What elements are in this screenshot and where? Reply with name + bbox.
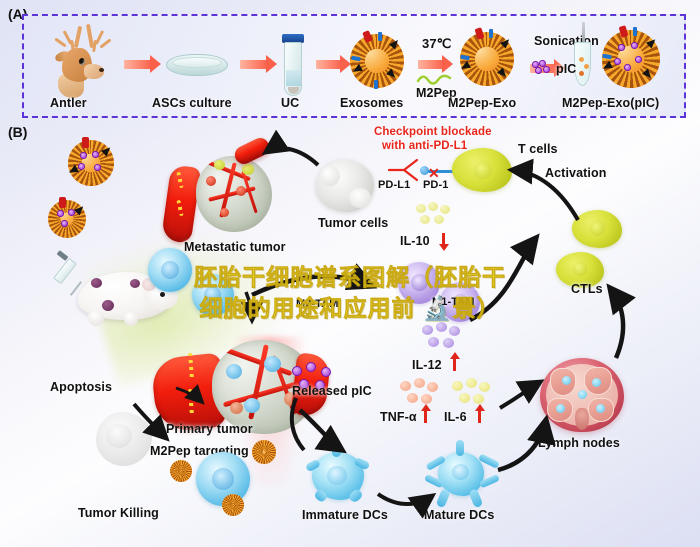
panel-a-label-ascs: ASCs culture <box>152 96 232 110</box>
watermark-line-1: 胚胎干细胞谱系图解（胚胎干 <box>0 262 700 293</box>
mature-dc-icon <box>438 452 484 496</box>
panel-a-label-exosomes: Exosomes <box>340 96 403 110</box>
sonication-tube-icon <box>570 24 596 86</box>
blockade-x-icon: ✕ <box>428 166 440 180</box>
label-pd1: PD-1 <box>423 179 448 191</box>
scientific-figure: (A) Antler ASCs culture <box>0 0 700 547</box>
peptide-exosome-icon <box>460 32 514 86</box>
process-arrow <box>124 60 152 69</box>
label-tumor-cells: Tumor cells <box>318 216 388 230</box>
t-cell-icon <box>452 148 512 192</box>
centrifuge-tube-icon <box>282 34 306 100</box>
panel-a-pic-label: pIC <box>556 62 576 76</box>
panel-a-label-m2pepexopic: M2Pep-Exo(pIC) <box>562 96 659 110</box>
il10-down-arrow-icon <box>442 233 445 245</box>
label-tumor-killing: Tumor Killing <box>78 506 159 520</box>
panel-b-mechanism: Metastatic tumor Tumor cells Checkpoint … <box>0 122 700 547</box>
ctl-cell-icon <box>572 210 622 248</box>
label-il6: IL-6 <box>444 410 467 424</box>
immature-dc-icon <box>312 452 364 500</box>
exosome-icon <box>252 440 276 464</box>
panel-a-label-m2pepexo: M2Pep-Exo <box>448 96 516 110</box>
panel-a-temperature: 37℃ <box>422 36 451 52</box>
tumor-cell-icon <box>316 160 374 212</box>
label-mature-dcs: Mature DCs <box>424 508 494 522</box>
process-arrow <box>240 60 268 69</box>
pic-molecule-icon <box>532 60 552 74</box>
label-immature-dcs: Immature DCs <box>302 508 388 522</box>
lymph-node-icon <box>540 358 624 432</box>
label-checkpoint-line1: Checkpoint blockade <box>374 126 492 138</box>
process-arrow <box>418 60 444 69</box>
deer-antler-icon <box>46 22 122 98</box>
label-released-pic: Released pIC <box>292 384 372 398</box>
label-checkpoint-line2: with anti-PD-L1 <box>382 140 467 152</box>
m2pep-squiggle-icon <box>416 72 456 86</box>
label-il12: IL-12 <box>412 358 442 372</box>
panel-a-label-antler: Antler <box>50 96 87 110</box>
process-arrow <box>316 60 342 69</box>
metastatic-tumor-icon <box>180 148 276 240</box>
il6-granules-icon <box>450 378 494 408</box>
label-apoptosis: Apoptosis <box>50 380 112 394</box>
label-il10: IL-10 <box>400 234 430 248</box>
exosome-icon <box>170 460 192 482</box>
label-lymph-nodes: Lymph nodes <box>538 436 620 450</box>
watermark-overlay: 胚胎干细胞谱系图解（胚胎干 细胞的用途和应用前 🔬景） <box>0 262 700 324</box>
il6-up-arrow-icon <box>478 410 481 423</box>
exosome-icon <box>350 34 404 88</box>
watermark-line-2: 细胞的用途和应用前 🔬景） <box>0 293 700 324</box>
il12-granules-icon <box>420 322 464 354</box>
label-primary-tumor: Primary tumor <box>166 422 253 436</box>
il10-granules-icon <box>414 202 454 230</box>
loaded-exosome-icon <box>48 200 86 238</box>
loaded-exosome-icon <box>602 30 660 88</box>
label-tnfa: TNF-α <box>380 410 417 424</box>
label-metastatic-tumor: Metastatic tumor <box>184 240 286 254</box>
panel-a-workflow: Antler ASCs culture UC <box>22 14 686 118</box>
tnfa-up-arrow-icon <box>424 410 427 423</box>
il12-up-arrow-icon <box>453 358 456 371</box>
label-t-cells: T cells <box>518 142 558 156</box>
label-pdl1: PD-L1 <box>378 179 410 191</box>
petri-dish-icon <box>166 54 230 78</box>
loaded-exosome-icon <box>68 140 114 186</box>
label-activation: Activation <box>545 166 606 180</box>
panel-a-label-uc: UC <box>281 96 299 110</box>
exosome-icon <box>222 494 244 516</box>
